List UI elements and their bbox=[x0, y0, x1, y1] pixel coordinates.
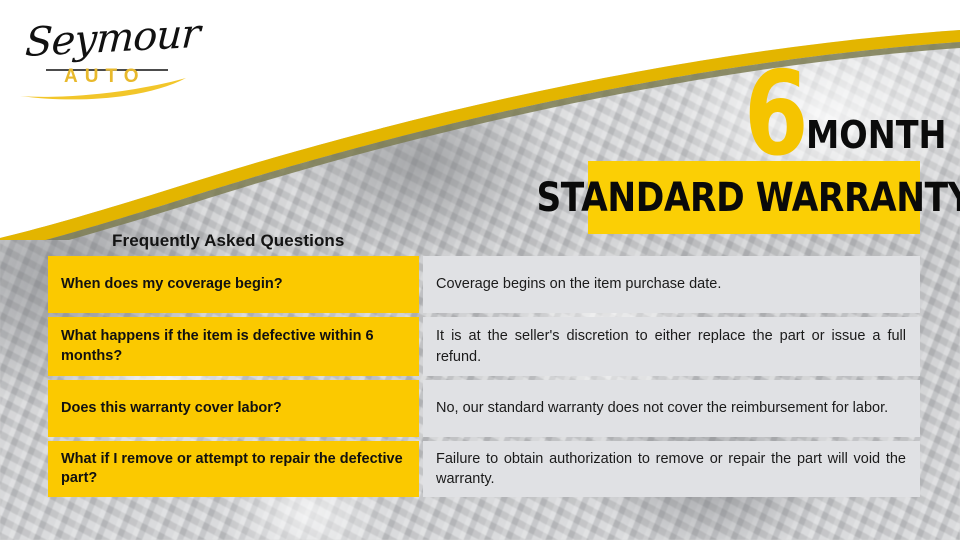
faq-answer-text: No, our standard warranty does not cover… bbox=[436, 398, 906, 418]
table-row: Does this warranty cover labor? No, our … bbox=[48, 380, 920, 437]
faq-question: When does my coverage begin? bbox=[48, 256, 419, 313]
faq-answer: It is at the seller's discretion to eith… bbox=[423, 317, 920, 376]
faq-question: What if I remove or attempt to repair th… bbox=[48, 441, 419, 497]
faq-answer-text: Failure to obtain authorization to remov… bbox=[436, 449, 906, 490]
standard-warranty-label: STANDARD WARRANTY bbox=[536, 178, 960, 218]
brand-logo-subtext: AUTO bbox=[64, 66, 145, 88]
duration-number: 6 bbox=[744, 67, 807, 162]
brand-logo[interactable]: Seymour AUTO bbox=[18, 16, 208, 102]
brand-logo-wordmark: Seymour bbox=[24, 11, 201, 66]
table-row: What if I remove or attempt to repair th… bbox=[48, 441, 920, 497]
faq-answer-text: It is at the seller's discretion to eith… bbox=[436, 326, 906, 367]
faq-answer: Coverage begins on the item purchase dat… bbox=[423, 256, 920, 313]
faq-question: Does this warranty cover labor? bbox=[48, 380, 419, 437]
duration-unit: MONTH bbox=[806, 116, 946, 154]
faq-table: When does my coverage begin? Coverage be… bbox=[48, 256, 920, 497]
standard-warranty-banner: STANDARD WARRANTY bbox=[588, 161, 920, 234]
faq-question: What happens if the item is defective wi… bbox=[48, 317, 419, 376]
table-row: What happens if the item is defective wi… bbox=[48, 317, 920, 376]
faq-heading: Frequently Asked Questions bbox=[112, 231, 344, 251]
table-row: When does my coverage begin? Coverage be… bbox=[48, 256, 920, 313]
faq-answer: No, our standard warranty does not cover… bbox=[423, 380, 920, 437]
faq-answer: Failure to obtain authorization to remov… bbox=[423, 441, 920, 497]
faq-answer-text: Coverage begins on the item purchase dat… bbox=[436, 274, 906, 294]
warranty-slide: Seymour AUTO 6 MONTH STANDARD WARRANTY F… bbox=[0, 0, 960, 540]
